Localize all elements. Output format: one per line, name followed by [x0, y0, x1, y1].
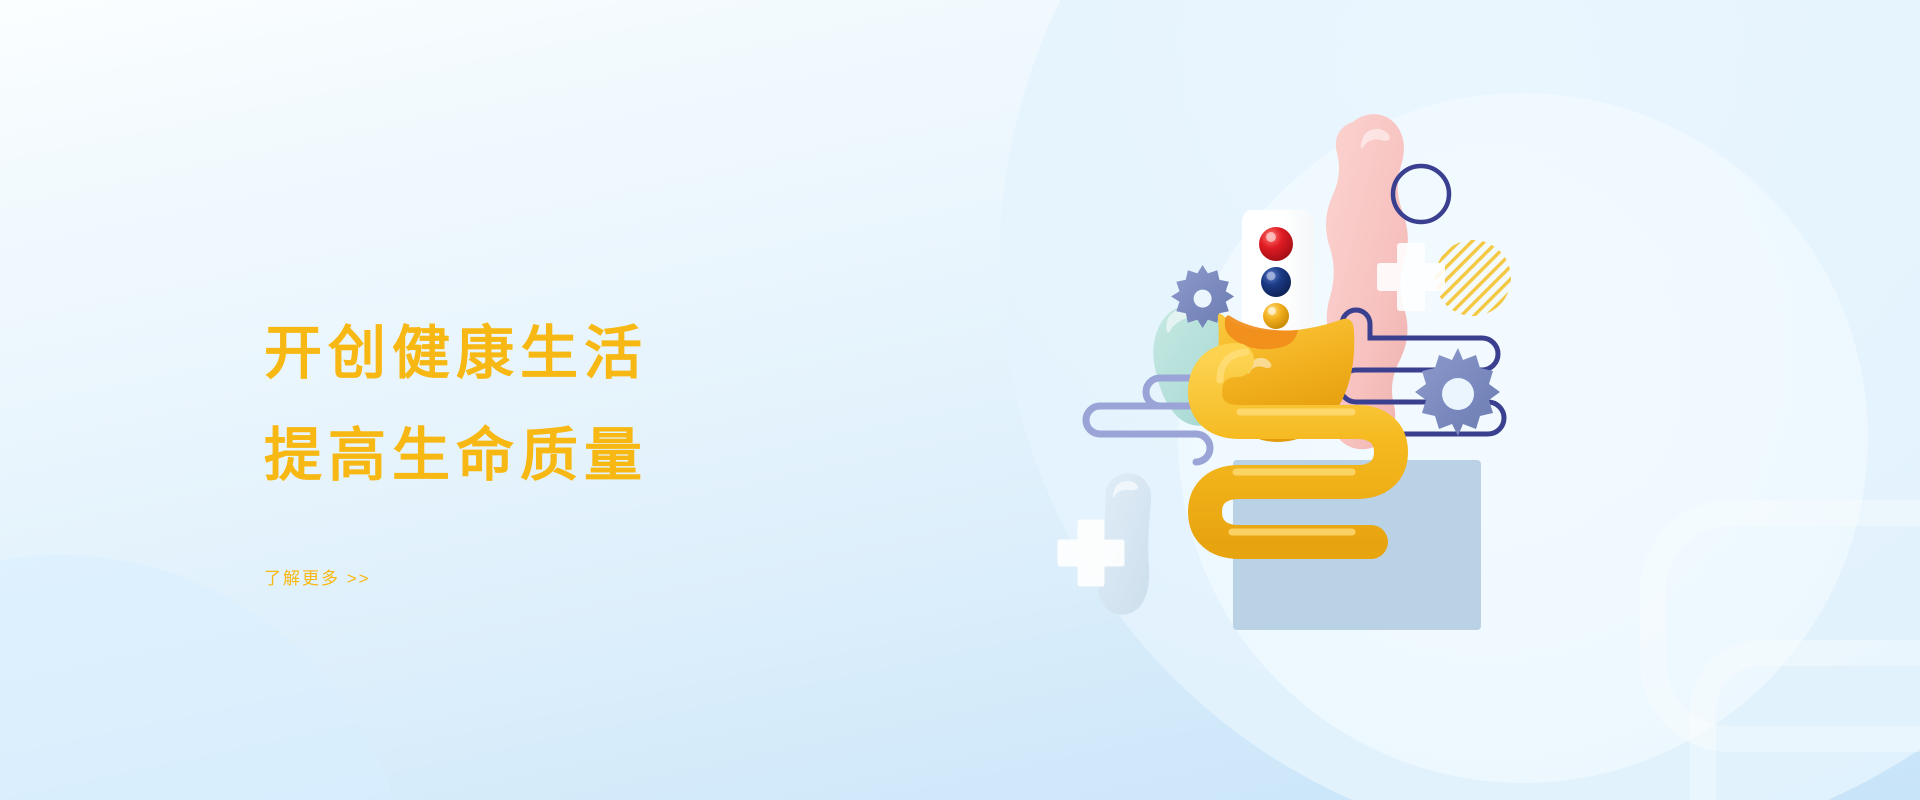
pill-navy — [1261, 267, 1291, 297]
gear-large — [1415, 348, 1500, 436]
headline-line-2: 提高生命质量 — [264, 412, 904, 500]
background-rounded-rect-1 — [1640, 500, 1920, 752]
background-rounded-rect-2 — [1690, 640, 1920, 800]
background-circle-bottom-left — [0, 555, 410, 800]
health-banner: 开创健康生活 提高生命质量 了解更多 >> — [0, 0, 1920, 800]
headline-line-1: 开创健康生活 — [264, 310, 904, 398]
learn-more-link[interactable]: 了解更多 >> — [264, 564, 371, 589]
banner-copy: 开创健康生活 提高生命质量 了解更多 >> — [264, 310, 904, 589]
digestive-system-illustration — [1040, 60, 1660, 680]
circle-outline-navy — [1393, 166, 1449, 222]
pill-red — [1259, 227, 1293, 261]
pill-yellow — [1263, 303, 1289, 329]
